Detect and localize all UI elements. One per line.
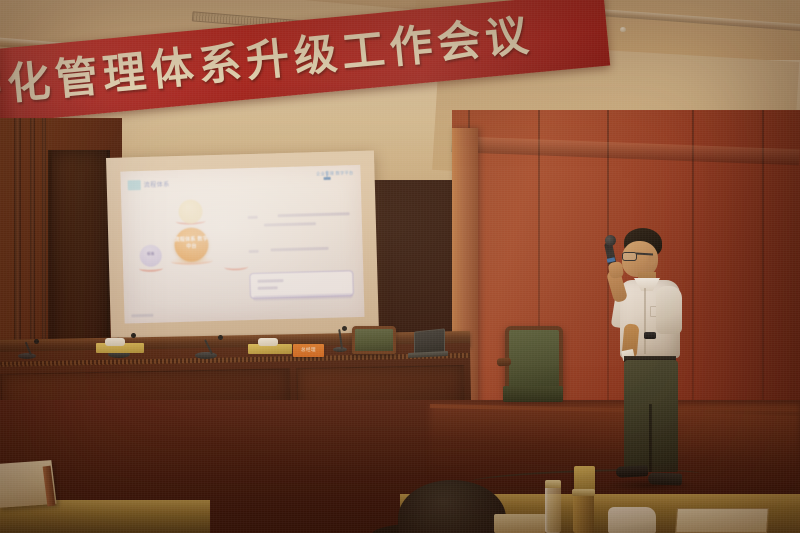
slide-bullet-marker bbox=[249, 250, 259, 253]
microphone-head bbox=[34, 339, 39, 344]
slide-text-line bbox=[257, 279, 283, 282]
name-plate-text: 总经理 bbox=[293, 344, 324, 357]
sprinkler-head bbox=[620, 27, 626, 32]
executive-chair-back bbox=[352, 326, 396, 354]
microphone-head bbox=[218, 335, 223, 340]
microphone-head bbox=[131, 333, 136, 338]
diagram-arc bbox=[171, 257, 213, 265]
presenter bbox=[600, 228, 710, 490]
slide-text-line bbox=[271, 247, 329, 251]
presenter-sleeve bbox=[656, 286, 682, 334]
slide-title: 流程体系 bbox=[144, 179, 170, 189]
shoe-left bbox=[616, 465, 649, 478]
slide-text-line bbox=[278, 212, 350, 217]
documents bbox=[675, 508, 769, 533]
tissue bbox=[608, 507, 656, 533]
diagram-circle-left-label: 标准 bbox=[140, 251, 162, 257]
microphone-base bbox=[18, 353, 36, 359]
water-bottle bbox=[545, 486, 561, 533]
slide-text-line bbox=[258, 286, 278, 289]
company-logo-text: 企业管理 数字平台 bbox=[316, 170, 354, 176]
microphone-head bbox=[342, 326, 347, 331]
microphone-base bbox=[195, 352, 217, 359]
projection-screen-surface: 流程体系 企业管理 数字平台 流程体系 数字中台 标准 bbox=[120, 165, 364, 324]
slide-title-chip bbox=[128, 180, 141, 190]
slide-content: 流程体系 企业管理 数字平台 流程体系 数字中台 标准 bbox=[120, 165, 364, 324]
armchair-armrest bbox=[497, 358, 512, 367]
documents bbox=[494, 514, 546, 533]
glasses-icon bbox=[622, 252, 637, 261]
presenter-ear bbox=[648, 254, 656, 265]
slide-bullet-marker bbox=[248, 216, 258, 219]
water-bottle-cap bbox=[545, 480, 561, 488]
wristwatch bbox=[644, 332, 656, 339]
diagram-arc bbox=[139, 264, 163, 272]
tissue-sheet bbox=[258, 338, 278, 346]
shoe-right bbox=[648, 472, 682, 485]
trouser-seam bbox=[649, 404, 652, 472]
thermos-flask bbox=[573, 492, 594, 533]
head-table-trim bbox=[0, 353, 470, 367]
name-plate: 总经理 bbox=[293, 344, 324, 357]
slide-footer bbox=[131, 314, 153, 318]
slide-text-line bbox=[264, 222, 316, 226]
shirt-placket bbox=[644, 288, 646, 354]
diagram-arc bbox=[224, 263, 248, 271]
tissue-sheet bbox=[105, 338, 125, 346]
thermos-cap bbox=[572, 489, 595, 496]
armchair-seat bbox=[503, 386, 563, 402]
presenter-hand bbox=[608, 261, 625, 279]
photo-scene: 字化管理体系升级工作会议 流程体系 企业管理 数字平台 bbox=[0, 0, 800, 533]
projection-screen: 流程体系 企业管理 数字平台 流程体系 数字中台 标准 bbox=[106, 151, 379, 340]
diagram-circle-center-label: 流程体系 数字中台 bbox=[174, 236, 208, 251]
